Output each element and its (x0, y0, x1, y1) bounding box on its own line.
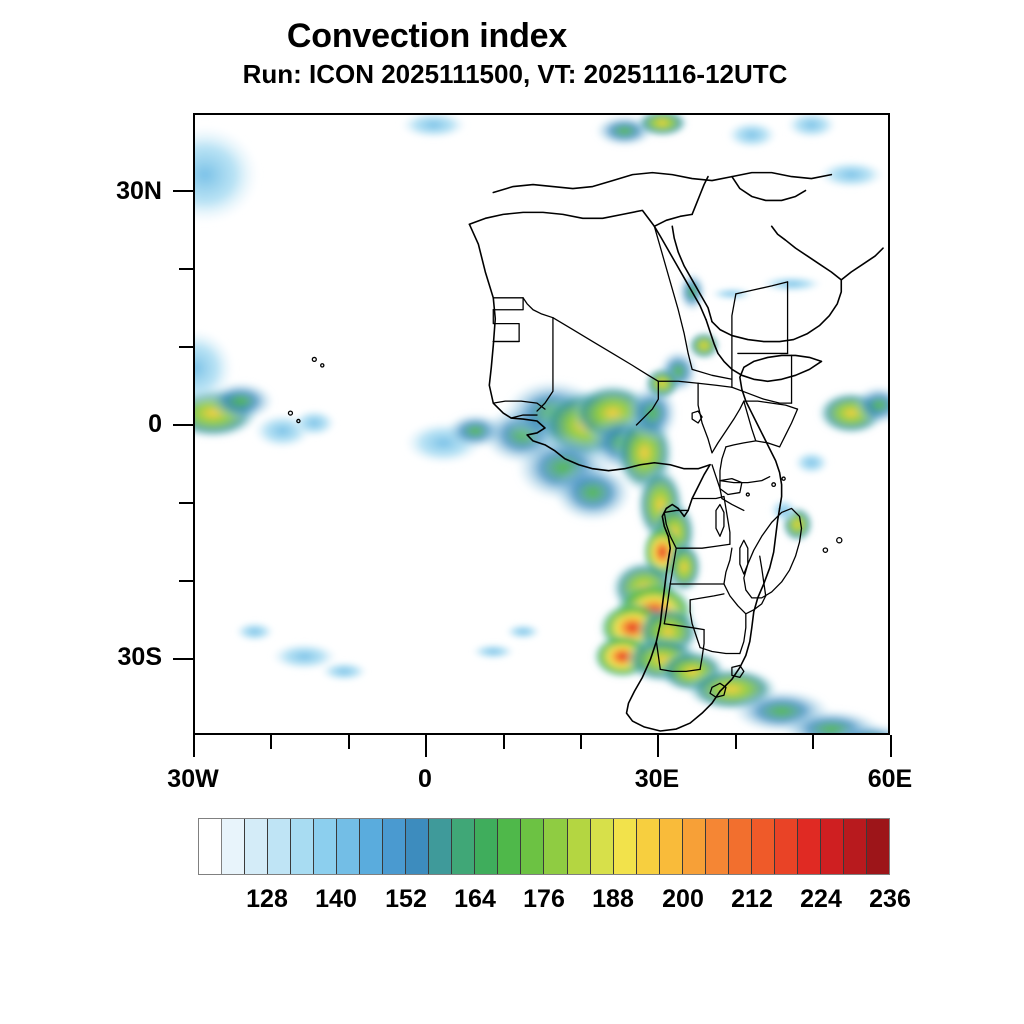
x-tick-60e (890, 735, 892, 757)
colorbar-cell (429, 819, 452, 874)
x-tick-10w (348, 735, 350, 749)
x-tick-30e (657, 735, 659, 757)
map-plot-area[interactable] (193, 113, 890, 735)
colorbar-cell (291, 819, 314, 874)
colorbar-cell (245, 819, 268, 874)
colorbar-cell (452, 819, 475, 874)
colorbar-cell (268, 819, 291, 874)
y-axis-label-30s: 30S (62, 643, 162, 672)
x-tick-0 (425, 735, 427, 757)
colorbar-cell (798, 819, 821, 874)
y-tick-10n (179, 346, 193, 348)
colorbar-tick-label: 164 (435, 885, 515, 914)
y-tick-10s (179, 502, 193, 504)
y-axis-label-0: 0 (62, 410, 162, 439)
colorbar-cell (222, 819, 245, 874)
colorbar-cell (729, 819, 752, 874)
colorbar-cell (867, 819, 889, 874)
colorbar-tick-label: 236 (850, 885, 930, 914)
colorbar-cell (683, 819, 706, 874)
colorbar-tick-label: 212 (712, 885, 792, 914)
convection-index-map (195, 115, 888, 733)
y-tick-20n (179, 268, 193, 270)
colorbar-cell (637, 819, 660, 874)
colorbar-cell (752, 819, 775, 874)
y-tick-0 (173, 424, 193, 426)
colorbar-cell (775, 819, 798, 874)
x-tick-30w (193, 735, 195, 757)
x-axis-label-30w: 30W (133, 765, 253, 794)
y-tick-30s (173, 658, 193, 660)
y-tick-20s (179, 580, 193, 582)
colorbar-cell (199, 819, 222, 874)
x-tick-40e (735, 735, 737, 749)
colorbar-cell (821, 819, 844, 874)
colorbar-cell (844, 819, 867, 874)
x-axis-label-0: 0 (365, 765, 485, 794)
y-tick-30n (173, 190, 193, 192)
colorbar-cell (660, 819, 683, 874)
colorbar-cell (591, 819, 614, 874)
colorbar-cell (521, 819, 544, 874)
x-tick-20e (580, 735, 582, 749)
colorbar[interactable] (198, 818, 890, 875)
colorbar-tick-label: 176 (504, 885, 584, 914)
colorbar-tick-label: 188 (573, 885, 653, 914)
colorbar-tick-label: 140 (296, 885, 376, 914)
colorbar-cell (614, 819, 637, 874)
colorbar-tick-label: 152 (366, 885, 446, 914)
x-tick-50e (812, 735, 814, 749)
chart-title-block: Convection index Run: ICON 2025111500, V… (0, 16, 1024, 90)
colorbar-tick-label: 128 (227, 885, 307, 914)
colorbar-cell (360, 819, 383, 874)
colorbar-cell (337, 819, 360, 874)
x-axis-label-30e: 30E (597, 765, 717, 794)
chart-subtitle: Run: ICON 2025111500, VT: 20251116-12UTC (6, 58, 1024, 90)
colorbar-cell (314, 819, 337, 874)
x-tick-20w (270, 735, 272, 749)
x-axis-label-60e: 60E (830, 765, 950, 794)
colorbar-tick-label: 224 (781, 885, 861, 914)
colorbar-cell (406, 819, 429, 874)
colorbar-cell (383, 819, 406, 874)
page-title: Convection index (0, 16, 1024, 56)
colorbar-cell (568, 819, 591, 874)
colorbar-tick-label: 200 (643, 885, 723, 914)
colorbar-cell (475, 819, 498, 874)
y-axis-label-30n: 30N (62, 177, 162, 206)
colorbar-cell (498, 819, 521, 874)
x-tick-10e (503, 735, 505, 749)
colorbar-cell (544, 819, 567, 874)
colorbar-cell (706, 819, 729, 874)
